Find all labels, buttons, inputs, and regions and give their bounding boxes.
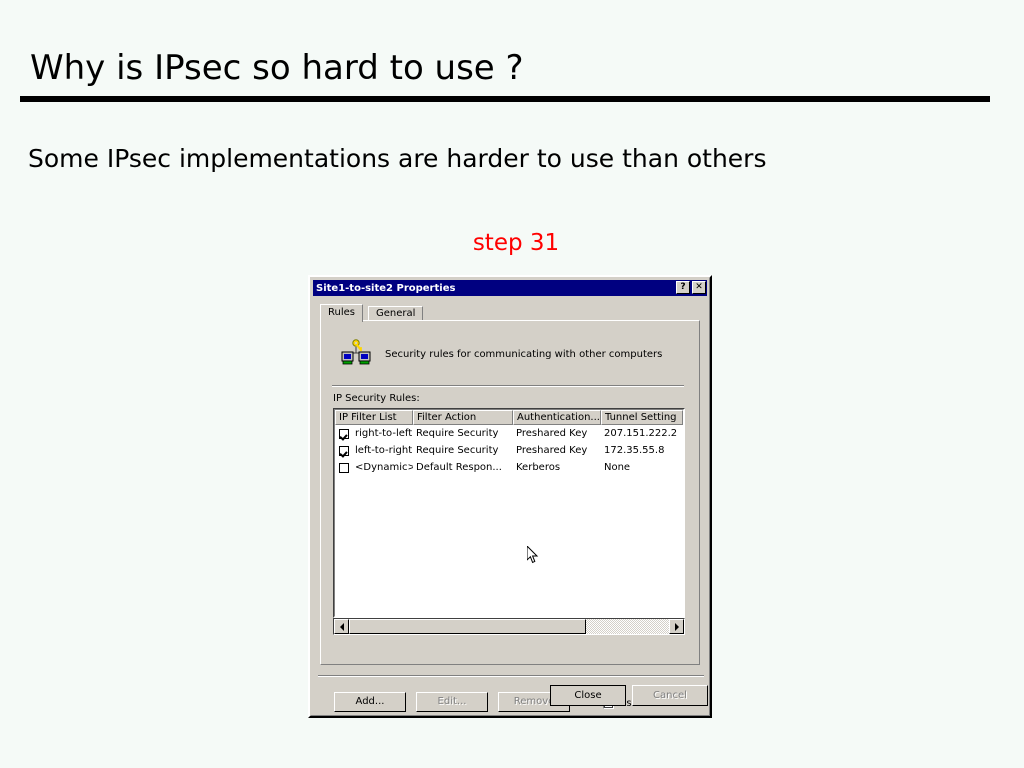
column-header-authentication[interactable]: Authentication... bbox=[513, 410, 601, 425]
cell-ip-filter-list: <Dynamic> bbox=[352, 461, 413, 475]
cell-authentication: Preshared Key bbox=[513, 427, 601, 441]
table-row[interactable]: <Dynamic> Default Respon... Kerberos Non… bbox=[335, 459, 683, 476]
close-icon[interactable]: ✕ bbox=[692, 281, 706, 294]
cell-tunnel-setting: 172.35.55.8 bbox=[601, 444, 683, 458]
tab-rules[interactable]: Rules bbox=[320, 304, 363, 322]
table-row[interactable]: right-to-left Require Security Preshared… bbox=[335, 425, 683, 442]
scrollbar-thumb[interactable] bbox=[349, 619, 586, 634]
step-label: step 31 bbox=[0, 230, 1024, 256]
row-checkbox[interactable] bbox=[339, 429, 349, 439]
column-header-filter-action[interactable]: Filter Action bbox=[413, 410, 513, 425]
scroll-right-arrow-icon[interactable] bbox=[669, 619, 684, 634]
step-label-text: step 31 bbox=[473, 230, 559, 256]
cell-authentication: Kerberos bbox=[513, 461, 601, 475]
add-button[interactable]: Add... bbox=[334, 692, 406, 712]
listview-header: IP Filter List Filter Action Authenticat… bbox=[335, 410, 683, 425]
scroll-left-arrow-icon[interactable] bbox=[334, 619, 349, 634]
column-header-tunnel-setting[interactable]: Tunnel Setting bbox=[601, 410, 683, 425]
tab-general[interactable]: General bbox=[368, 306, 423, 321]
description-row: Security rules for communicating with ot… bbox=[341, 339, 662, 370]
cell-authentication: Preshared Key bbox=[513, 444, 601, 458]
column-header-ip-filter-list[interactable]: IP Filter List bbox=[335, 410, 413, 425]
title-divider bbox=[20, 96, 990, 102]
properties-dialog: Site1-to-site2 Properties ? ✕ Rules Gene… bbox=[308, 275, 712, 718]
help-button[interactable]: ? bbox=[676, 281, 690, 294]
table-row[interactable]: left-to-right Require Security Preshared… bbox=[335, 442, 683, 459]
slide-body-text: Some IPsec implementations are harder to… bbox=[28, 144, 767, 173]
titlebar-buttons: ? ✕ bbox=[676, 281, 706, 294]
scrollbar-track[interactable] bbox=[349, 619, 669, 634]
rules-listview[interactable]: IP Filter List Filter Action Authenticat… bbox=[334, 409, 684, 617]
ip-security-rules-label: IP Security Rules: bbox=[333, 393, 420, 404]
close-button[interactable]: Close bbox=[550, 685, 626, 706]
page-title: Why is IPsec so hard to use ? bbox=[30, 48, 524, 88]
cell-filter-action: Default Respon... bbox=[413, 461, 513, 475]
dialog-footer-divider bbox=[318, 675, 704, 677]
description-text: Security rules for communicating with ot… bbox=[385, 349, 662, 360]
dialog-title: Site1-to-site2 Properties bbox=[316, 283, 455, 294]
edit-button: Edit... bbox=[416, 692, 488, 712]
tabstrip: Rules General bbox=[320, 304, 700, 321]
dialog-titlebar[interactable]: Site1-to-site2 Properties ? ✕ bbox=[313, 280, 707, 296]
cell-filter-action: Require Security bbox=[413, 427, 513, 441]
section-divider bbox=[332, 385, 684, 387]
row-checkbox[interactable] bbox=[339, 446, 349, 456]
key-and-computers-icon bbox=[341, 339, 371, 370]
cell-ip-filter-list: left-to-right bbox=[352, 444, 413, 458]
cell-filter-action: Require Security bbox=[413, 444, 513, 458]
row-checkbox[interactable] bbox=[339, 463, 349, 473]
cell-tunnel-setting: None bbox=[601, 461, 683, 475]
tab-page-rules: Security rules for communicating with ot… bbox=[320, 320, 700, 665]
cell-ip-filter-list: right-to-left bbox=[352, 427, 413, 441]
cell-tunnel-setting: 207.151.222.2 bbox=[601, 427, 683, 441]
horizontal-scrollbar[interactable] bbox=[333, 618, 685, 635]
cancel-button: Cancel bbox=[632, 685, 708, 706]
